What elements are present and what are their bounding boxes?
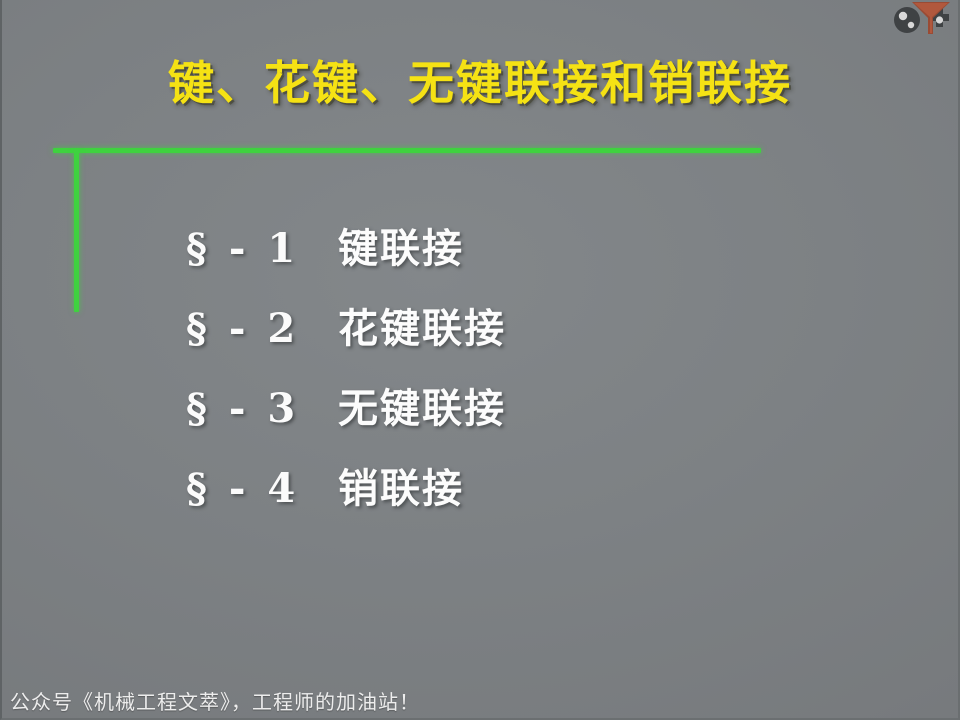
section-number: § - 1 xyxy=(186,225,338,272)
section-number: § - 4 xyxy=(186,465,338,512)
accent-rule-vertical xyxy=(74,150,79,312)
section-label: 花键联接 xyxy=(338,296,826,354)
section-label: 键联接 xyxy=(338,216,826,274)
list-item[interactable]: § - 4 销联接 xyxy=(186,456,826,536)
section-number: § - 2 xyxy=(186,305,338,352)
presentation-slide: 键、花键、无键联接和销联接 § - 1 键联接 § - 2 花键联接 § - 3… xyxy=(0,0,960,720)
list-item[interactable]: § - 2 花键联接 xyxy=(186,296,826,376)
section-label: 销联接 xyxy=(338,456,826,514)
section-list: § - 1 键联接 § - 2 花键联接 § - 3 无键联接 § - 4 销联… xyxy=(186,216,826,536)
list-item[interactable]: § - 3 无键联接 xyxy=(186,376,826,456)
section-label: 无键联接 xyxy=(338,376,826,434)
accent-rule-horizontal xyxy=(53,148,761,153)
section-number: § - 3 xyxy=(186,385,338,432)
gear-funnel-icon xyxy=(892,0,956,36)
list-item[interactable]: § - 1 键联接 xyxy=(186,216,826,296)
slide-title: 键、花键、无键联接和销联接 xyxy=(0,58,960,109)
brand-logo xyxy=(892,0,956,36)
watermark-text: 公众号《机械工程文萃》，工程师的加油站！ xyxy=(10,686,420,715)
